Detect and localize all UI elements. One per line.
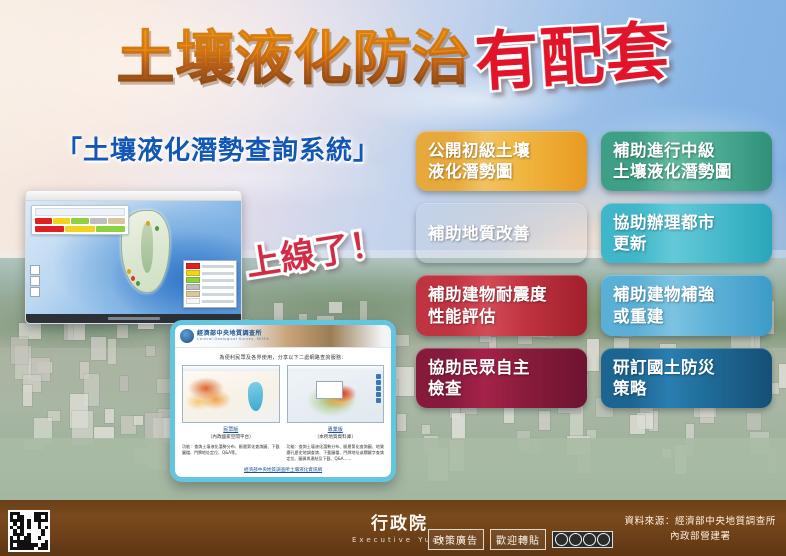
headline-main: 土壤液化防治 xyxy=(116,23,470,93)
button-label-line2: 或重建 xyxy=(613,306,715,327)
cgs-site-panel[interactable]: 經濟部中央地質調查所 Central Geological Survey, MO… xyxy=(170,320,396,482)
button-label-line1: 協助民眾自主 xyxy=(428,357,530,378)
system-subtitle: 「土壤液化潛勢查詢系統」 xyxy=(28,130,408,167)
button-row: 公開初級土壤液化潛勢圖補助進行中級土壤液化潛勢圖 xyxy=(416,131,772,191)
legend-color-swatch xyxy=(186,298,200,304)
headline-accent: 有配套 xyxy=(472,16,671,100)
column-public[interactable]: 民眾版 （內政國家空間平台） 功能：查詢土壤液化潛勢分布、斷層第化查詢圖、下載圖… xyxy=(182,365,280,462)
map-marker xyxy=(127,269,131,274)
footer-bar: 行政院 Executive Yuan 政策廣告 歡迎轉貼 資料來源：經濟部中央地… xyxy=(0,500,786,556)
footer-badges: 政策廣告 歡迎轉貼 xyxy=(428,529,613,550)
button-label-line1: 補助地質改善 xyxy=(428,223,530,244)
legend-label xyxy=(202,265,234,268)
map-marker xyxy=(155,226,159,231)
action-button-6[interactable]: 補助建物補強或重建 xyxy=(601,275,772,335)
action-button-1[interactable]: 公開初級土壤液化潛勢圖 xyxy=(416,131,587,191)
browser-chrome-bar xyxy=(26,191,241,201)
public-version-link[interactable]: 民眾版 xyxy=(182,426,280,433)
legend-row xyxy=(186,277,234,283)
source-line-1: 資料來源：經濟部中央地質調查所 xyxy=(624,514,776,529)
legend-color-swatch xyxy=(186,291,200,297)
action-button-2[interactable]: 補助進行中級土壤液化潛勢圖 xyxy=(601,131,772,191)
poster-root: 土壤液化防治有配套 「土壤液化潛勢查詢系統」 上線了！ xyxy=(0,0,786,556)
map-screenshot-panel[interactable] xyxy=(25,190,242,324)
professional-version-link[interactable]: 專業版 xyxy=(287,426,385,433)
legend-color-swatch xyxy=(186,277,200,283)
button-label-line1: 補助建物耐震度 xyxy=(428,284,547,305)
legend-row xyxy=(186,291,234,297)
site-columns: 民眾版 （內政國家空間平台） 功能：查詢土壤液化潛勢分布、斷層第化查詢圖、下載圖… xyxy=(175,365,391,462)
site-header: 經濟部中央地質調查所 Central Geological Survey, MO… xyxy=(175,325,391,348)
legend-row xyxy=(186,270,234,276)
measure-button-grid: 公開初級土壤液化潛勢圖補助進行中級土壤液化潛勢圖補助地質改善協助辦理都市更新補助… xyxy=(416,131,772,420)
legend-swatch-strip-2 xyxy=(35,226,125,232)
map-tool-rail xyxy=(376,374,381,404)
map-marker xyxy=(136,281,140,286)
data-source-note: 資料來源：經濟部中央地質調查所 內政部營建署 xyxy=(624,514,776,544)
action-button-8[interactable]: 研訂國土防災策略 xyxy=(601,348,772,408)
zoom-controls[interactable] xyxy=(30,265,38,298)
zoom-out-icon[interactable] xyxy=(30,276,40,286)
page-title: 土壤液化防治有配套 xyxy=(0,22,786,104)
layers-icon[interactable] xyxy=(30,287,40,297)
site-bottom-link[interactable]: 經濟部中央地質調查所土壤液化資訊網 xyxy=(175,467,391,473)
qr-code[interactable] xyxy=(8,510,50,552)
professional-version-description: 功能：查詢土壤液化潛勢分布、斷層第化查詢圖、地質鑽孔歷史地調查詢、下載圖檔、門牌… xyxy=(287,444,385,462)
legend-label xyxy=(202,286,234,289)
org-subtitle: Central Geological Survey, MOEA xyxy=(197,337,269,341)
button-label-line1: 研訂國土防災 xyxy=(613,357,715,378)
map-popup xyxy=(316,381,343,400)
button-label-line1: 補助建物補強 xyxy=(613,284,715,305)
legend-label xyxy=(202,272,234,275)
legend-color-swatch xyxy=(186,270,200,276)
map-search-box[interactable] xyxy=(31,205,129,235)
source-line-2: 內政部營建署 xyxy=(624,529,776,544)
policy-ad-badge: 政策廣告 xyxy=(428,529,484,550)
action-button-7[interactable]: 協助民眾自主檢查 xyxy=(416,348,587,408)
legend-row xyxy=(186,298,234,304)
button-label-line1: 補助進行中級 xyxy=(613,140,732,161)
button-label-line2: 檢查 xyxy=(428,378,530,399)
public-version-caption: （內政國家空間平台） xyxy=(182,434,280,440)
action-button-5[interactable]: 補助建物耐震度性能評估 xyxy=(416,275,587,335)
legend-color-swatch xyxy=(186,284,200,290)
zoom-in-icon[interactable] xyxy=(30,265,40,275)
legend-color-swatch xyxy=(186,263,200,269)
map-viewport[interactable] xyxy=(26,201,241,314)
button-label-line1: 公開初級土壤 xyxy=(428,140,530,161)
map-legend xyxy=(183,260,237,308)
search-input[interactable] xyxy=(35,208,125,216)
button-label-line2: 更新 xyxy=(613,233,715,254)
action-button-3[interactable]: 補助地質改善 xyxy=(416,203,587,263)
action-button-4[interactable]: 協助辦理都市更新 xyxy=(601,203,772,263)
button-label-line2: 液化潛勢圖 xyxy=(428,161,530,182)
cgs-logo-icon xyxy=(179,328,195,344)
button-row: 補助建物耐震度性能評估補助建物補強或重建 xyxy=(416,275,772,335)
legend-label xyxy=(202,293,234,296)
legend-label xyxy=(202,279,234,282)
professional-map-thumbnail[interactable] xyxy=(287,365,385,423)
button-row: 協助民眾自主檢查研訂國土防災策略 xyxy=(416,348,772,408)
share-ok-badge: 歡迎轉貼 xyxy=(490,529,546,550)
legend-swatch-strip xyxy=(35,218,125,224)
button-label-line2: 土壤液化潛勢圖 xyxy=(613,161,732,182)
legend-label xyxy=(202,300,234,303)
column-professional[interactable]: 專業版 （本所地質資料庫） 功能：查詢土壤液化潛勢分布、斷層第化查詢圖、地質鑽孔… xyxy=(287,365,385,462)
button-label-line2: 性能評估 xyxy=(428,306,547,327)
public-version-description: 功能：查詢土壤液化潛勢分布、斷層第化查詢圖、下載圖檔、門牌地址定位、Q&A等。 xyxy=(182,444,280,456)
creative-commons-icon xyxy=(552,531,613,548)
professional-version-caption: （本所地質資料庫） xyxy=(287,434,385,440)
legend-row xyxy=(186,284,234,290)
org-title: 經濟部中央地質調查所 xyxy=(197,328,262,337)
legend-row xyxy=(186,263,234,269)
button-row: 補助地質改善協助辦理都市更新 xyxy=(416,203,772,263)
button-label-line1: 協助辦理都市 xyxy=(613,212,715,233)
button-label-line2: 策略 xyxy=(613,378,715,399)
public-map-thumbnail[interactable] xyxy=(182,365,280,423)
site-note: 為便利民眾及各界使用，分享以下二處網路查詢服務： xyxy=(181,354,385,361)
